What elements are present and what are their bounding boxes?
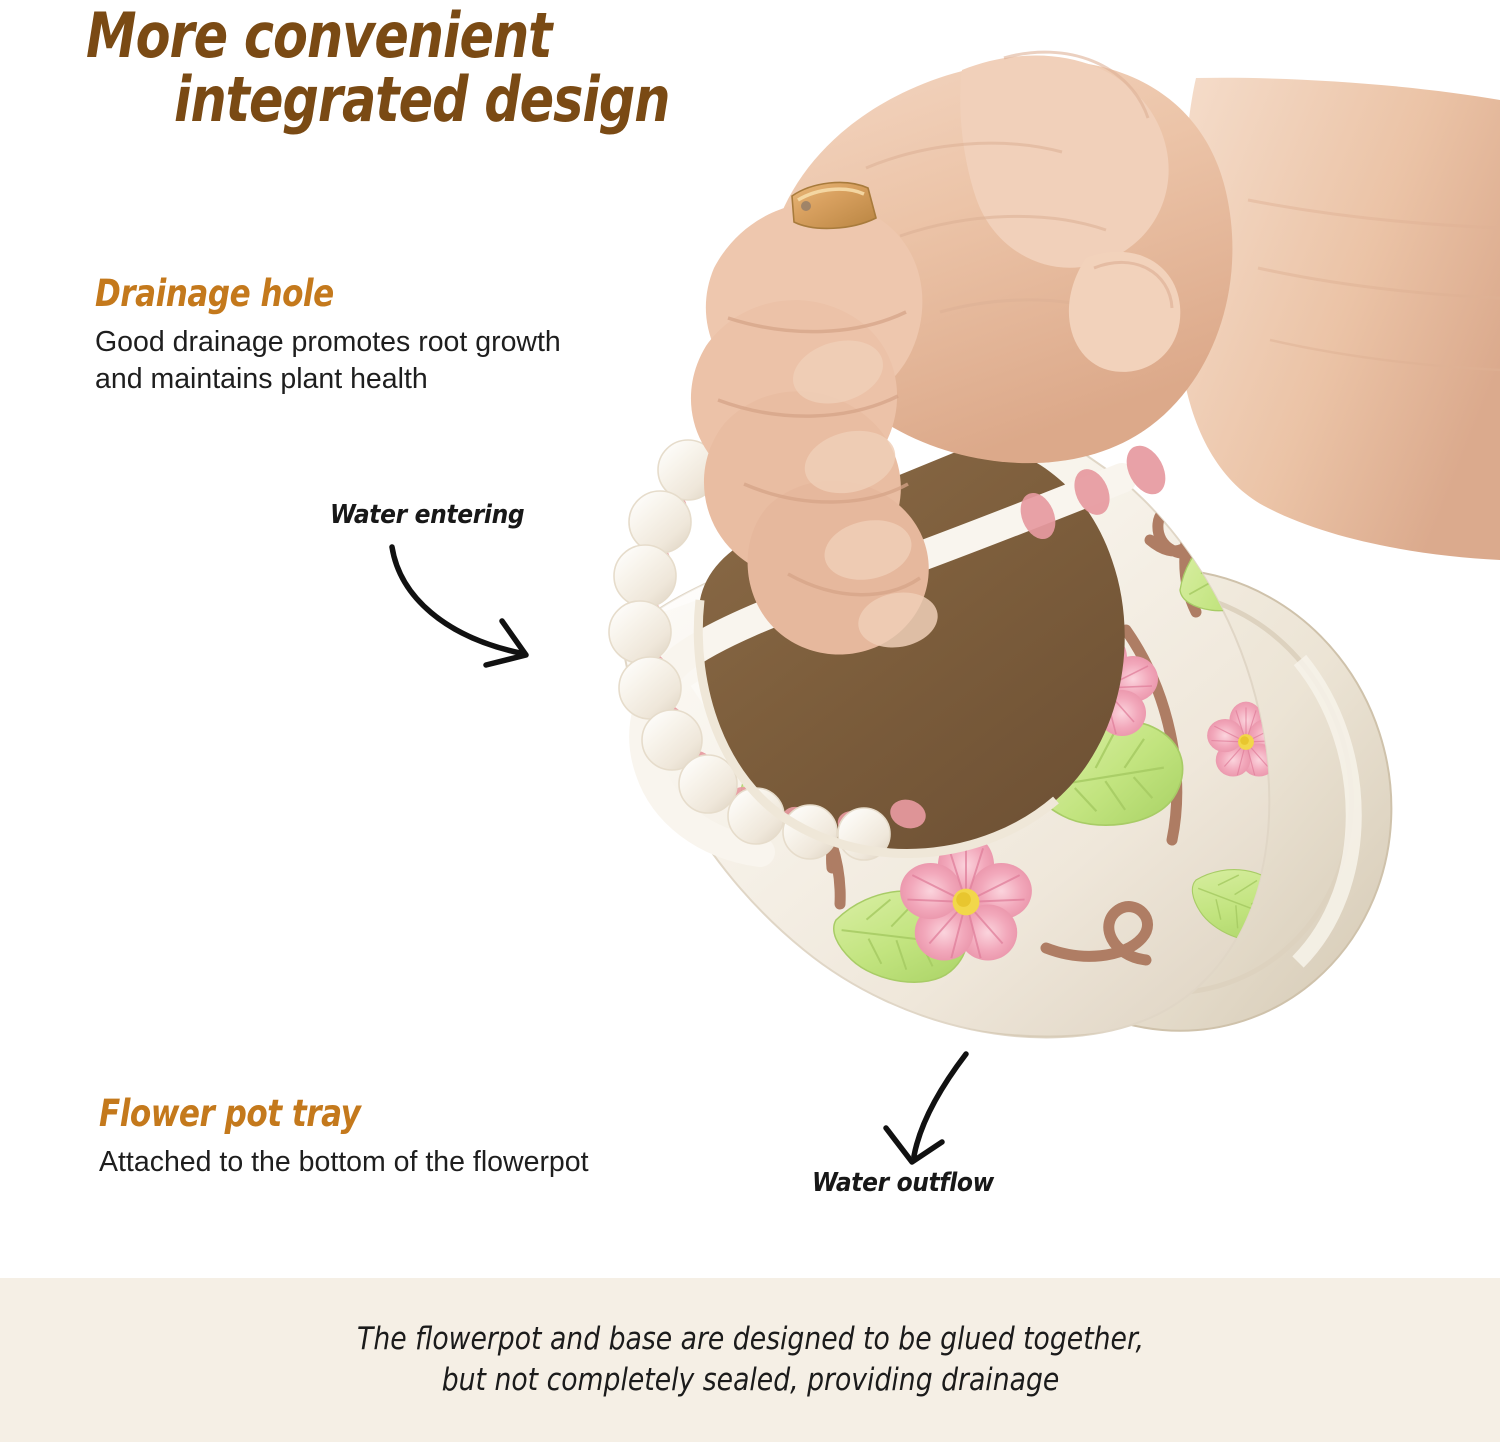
embossed-flower-group (900, 632, 1285, 961)
headline-line-2: integrated design (174, 68, 741, 132)
curved-arrow-down-right-icon (360, 525, 560, 675)
bottom-caption-band: The flowerpot and base are designed to b… (0, 1278, 1500, 1442)
curved-arrow-down-left-icon (880, 1040, 1020, 1175)
callout-label-water-outflow: Water outflow (812, 1168, 994, 1198)
feature-block-flower-pot-tray: Flower pot tray Attached to the bottom o… (99, 1092, 799, 1181)
scalloped-pink-rim (609, 439, 1173, 860)
headline-line-1: More convenient (86, 4, 726, 68)
page-title: More convenient integrated design (86, 4, 866, 133)
bottom-caption-text: The flowerpot and base are designed to b… (357, 1319, 1144, 1401)
embossed-decoration (700, 470, 1304, 990)
hand-holding-pot-shape (691, 52, 1500, 654)
pot-interior (698, 442, 1124, 853)
product-photo (0, 0, 1500, 1442)
feature-title-drainage-hole: Drainage hole (95, 272, 649, 315)
flower-pot-tray-shape (893, 512, 1451, 1088)
embossed-leaf-group (721, 505, 1305, 990)
feature-body-flower-pot-tray: Attached to the bottom of the flowerpot (99, 1144, 799, 1181)
feature-body-drainage-hole: Good drainage promotes root growth and m… (95, 324, 755, 399)
gold-ring-shape (792, 182, 876, 228)
product-infographic: More convenient integrated design Draina… (0, 0, 1500, 1442)
fingers (691, 202, 942, 654)
callout-label-water-entering: Water entering (330, 500, 524, 530)
feature-block-drainage-hole: Drainage hole Good drainage promotes roo… (95, 272, 755, 399)
feature-title-flower-pot-tray: Flower pot tray (99, 1092, 687, 1135)
flower-pot-shape (609, 430, 1304, 1080)
